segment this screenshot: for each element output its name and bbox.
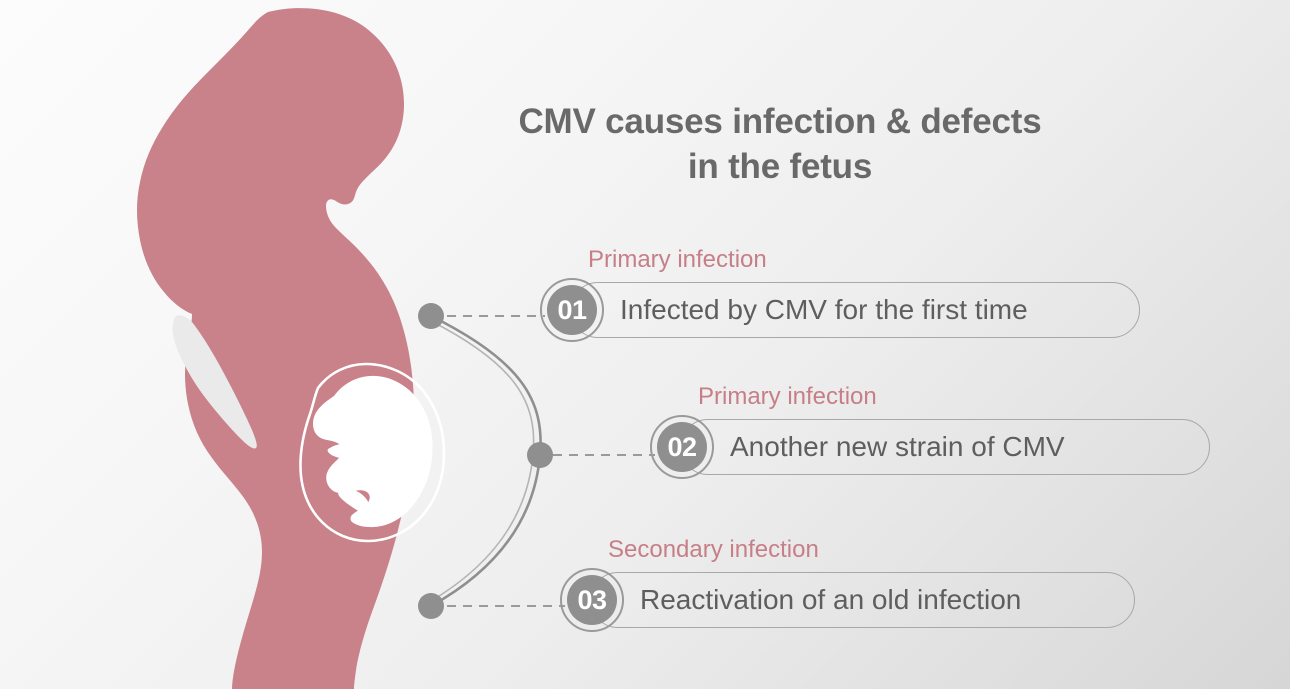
row-text-01: Infected by CMV for the first time — [620, 282, 1028, 338]
number-badge-01: 01 — [540, 278, 604, 342]
page-title: CMV causes infection & defects in the fe… — [470, 100, 1090, 190]
connector-arc-inner — [431, 321, 534, 601]
number-badge-value-03: 03 — [567, 575, 617, 625]
kicker-label-03: Secondary infection — [608, 538, 819, 562]
number-badge-value-02: 02 — [657, 422, 707, 472]
page-title-line-1: CMV causes infection & defects — [470, 100, 1090, 145]
number-badge-03: 03 — [560, 568, 624, 632]
kicker-label-02: Primary infection — [698, 385, 877, 409]
number-badge-02: 02 — [650, 415, 714, 479]
row-text-02: Another new strain of CMV — [730, 419, 1065, 475]
page-title-line-2: in the fetus — [470, 145, 1090, 190]
kicker-label-01: Primary infection — [588, 248, 767, 272]
row-text-03: Reactivation of an old infection — [640, 572, 1021, 628]
connector-dot-03 — [418, 593, 444, 619]
connector-dot-02 — [527, 442, 553, 468]
connector-arc-outer — [431, 316, 541, 606]
number-badge-value-01: 01 — [547, 285, 597, 335]
infographic-canvas: CMV causes infection & defects in the fe… — [0, 0, 1290, 689]
connector-dot-01 — [418, 303, 444, 329]
